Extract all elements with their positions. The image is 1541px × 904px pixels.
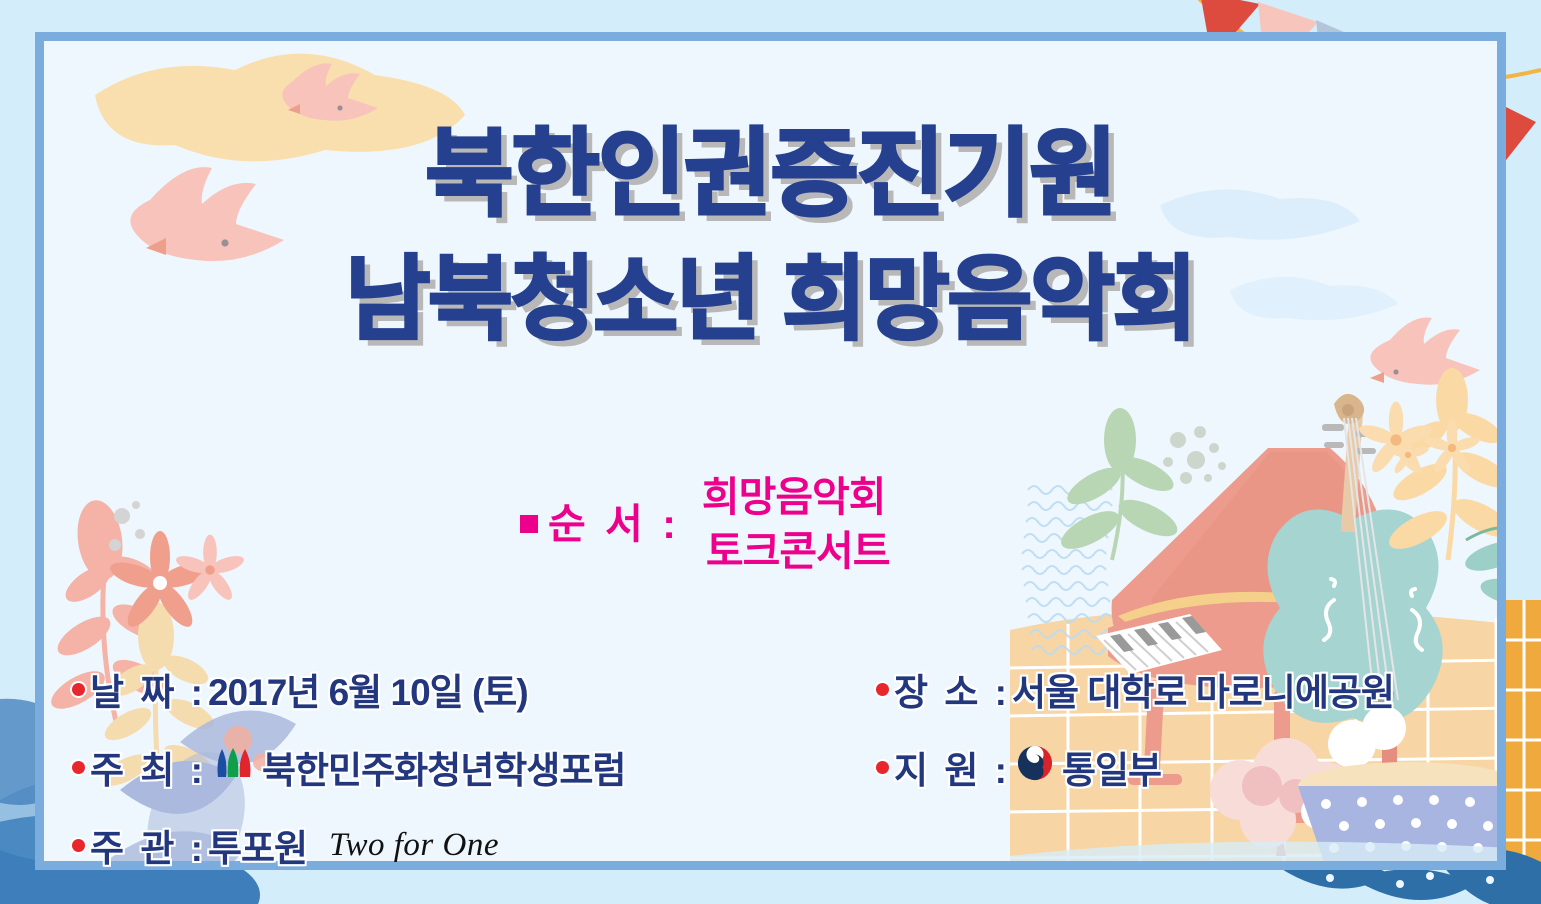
grey-dot-cluster (1163, 426, 1226, 484)
leaf-sprigs-right (1357, 368, 1506, 610)
program-block: 순 서 : 희망음악회 토크콘서트 (520, 470, 1080, 578)
info-value-venue: 서울 대학로 마로니에공원 (1012, 662, 1394, 716)
dove-bird-left-upper (282, 63, 378, 120)
info-row-organizer: 주 관 : 투포원 Two for One (72, 818, 832, 872)
three-people-forum-logo (212, 746, 254, 788)
info-key-date: 날 짜 : (90, 662, 206, 716)
bullet-dot-icon (72, 761, 85, 774)
bullet-dot-icon (72, 683, 85, 696)
taegeuk-government-logo (1016, 744, 1054, 791)
program-label: 순 서 : (548, 497, 680, 551)
info-key-venue: 장 소 : (894, 662, 1010, 716)
info-value-host: 북한민주화청년학생포럼 (262, 740, 625, 794)
info-right-column: 장 소 : 서울 대학로 마로니에공원 지 원 : 통일부 (876, 662, 1496, 818)
program-item-1: 희망음악회 (702, 470, 890, 524)
info-row-host: 주 최 : 북한민주화청년학생포럼 (72, 740, 832, 794)
poster-canvas: 북한인권증진기원 남북청소년 희망음악회 순 서 : 희망음악회 토크콘서트 날… (0, 0, 1541, 904)
dove-bird-right (1370, 317, 1480, 384)
square-bullet-icon (520, 515, 538, 533)
info-value-organizer: 투포원 (208, 818, 307, 872)
two-for-one-wordmark: Two for One (329, 827, 499, 864)
bullet-dot-icon (72, 839, 85, 852)
flowers-right (1357, 402, 1481, 476)
info-key-support: 지 원 : (894, 740, 1010, 794)
orange-grid-floor-outer (1506, 600, 1541, 900)
info-value-support: 통일부 (1062, 740, 1161, 794)
flowers-left (107, 531, 246, 632)
info-row-support: 지 원 : 통일부 (876, 740, 1496, 794)
cloud-cream-top-left (95, 54, 465, 162)
bullet-dot-icon (876, 761, 889, 774)
info-row-venue: 장 소 : 서울 대학로 마로니에공원 (876, 662, 1496, 716)
info-key-host: 주 최 : (90, 740, 206, 794)
info-value-date: 2017년 6월 10일 (토) (208, 662, 528, 716)
info-key-organizer: 주 관 : (90, 818, 206, 872)
bullet-dot-icon (876, 683, 889, 696)
info-row-date: 날 짜 : 2017년 6월 10일 (토) (72, 662, 832, 716)
info-left-column: 날 짜 : 2017년 6월 10일 (토) 주 최 : 북한민주화청년학생포럼… (72, 662, 832, 896)
dove-bird-left-lower (130, 167, 284, 261)
program-item-2: 토크콘서트 (706, 524, 890, 578)
